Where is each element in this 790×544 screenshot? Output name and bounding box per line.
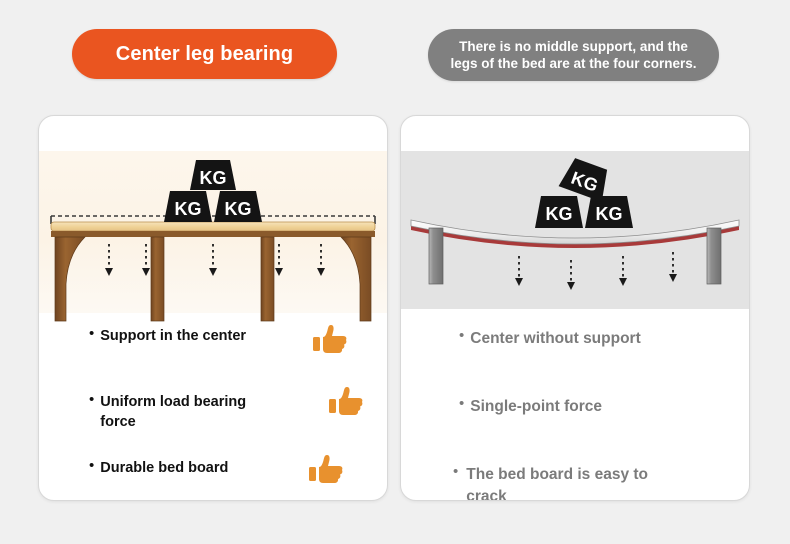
load-arrows (109, 244, 321, 268)
bed-board-edge (51, 231, 375, 237)
bed-leg-right (341, 237, 371, 321)
list-item: • Single-point force (401, 396, 749, 442)
kg-weight-top-tilted: KG (559, 156, 613, 202)
bullet-point: • (89, 458, 94, 474)
list-item-label: The bed board is easy to crack (466, 464, 684, 501)
bed-board-top (51, 222, 375, 231)
center-leg-bearing-badge: Center leg bearing (72, 29, 337, 79)
kg-weight-label: KG (596, 204, 623, 224)
bullet-point: • (89, 326, 94, 342)
thumbs-up-icon (307, 450, 347, 490)
thumbs-up-icon (311, 320, 351, 360)
kg-weight-label: KG (200, 168, 227, 188)
bullet-point: • (453, 464, 458, 480)
bed-leg-center-2 (261, 237, 274, 321)
bed-leg-center-1 (151, 237, 164, 321)
kg-weight-label: KG (175, 199, 202, 219)
right-comparison-card: KG KG KG • Center without support • Sing… (400, 115, 750, 501)
list-item-label: Single-point force (470, 396, 602, 418)
kg-weight-stack: KG KG KG (535, 156, 633, 228)
list-item: • Durable bed board (39, 458, 387, 501)
bed-leg-left (429, 228, 443, 284)
list-item-label: Center without support (470, 328, 641, 350)
right-drawback-list: • Center without support • Single-point … (401, 324, 749, 501)
bullet-point: • (459, 328, 464, 344)
list-item: • Center without support (401, 328, 749, 374)
no-middle-support-badge: There is no middle support, and the legs… (428, 29, 719, 81)
kg-weight-label: KG (546, 204, 573, 224)
left-comparison-card: KG KG KG • Support in the center • (38, 115, 388, 501)
bed-leg-left (55, 237, 85, 321)
list-item-label: Uniform load bearing force (100, 392, 272, 432)
no-middle-support-line2: legs of the bed are at the four corners. (450, 56, 696, 71)
list-item: • Uniform load bearing force (39, 392, 387, 438)
no-middle-support-text: There is no middle support, and the legs… (432, 38, 714, 72)
list-item: • The bed board is easy to crack (401, 464, 749, 501)
bullet-point: • (89, 392, 94, 408)
center-leg-bearing-label: Center leg bearing (116, 43, 293, 66)
bullet-point: • (459, 396, 464, 412)
bed-leg-right (707, 228, 721, 284)
load-arrows (519, 252, 673, 282)
thumbs-up-icon (327, 382, 367, 422)
no-middle-support-line1: There is no middle support, and the (459, 39, 688, 54)
list-item-label: Support in the center (100, 326, 246, 346)
list-item: • Support in the center (39, 326, 387, 372)
kg-weight-stack: KG KG KG (164, 160, 262, 222)
page-root: Center leg bearing There is no middle su… (0, 0, 790, 544)
kg-weight-label: KG (225, 199, 252, 219)
left-benefit-list: • Support in the center • Uniform load b… (39, 324, 387, 501)
list-item-label: Durable bed board (100, 458, 228, 478)
